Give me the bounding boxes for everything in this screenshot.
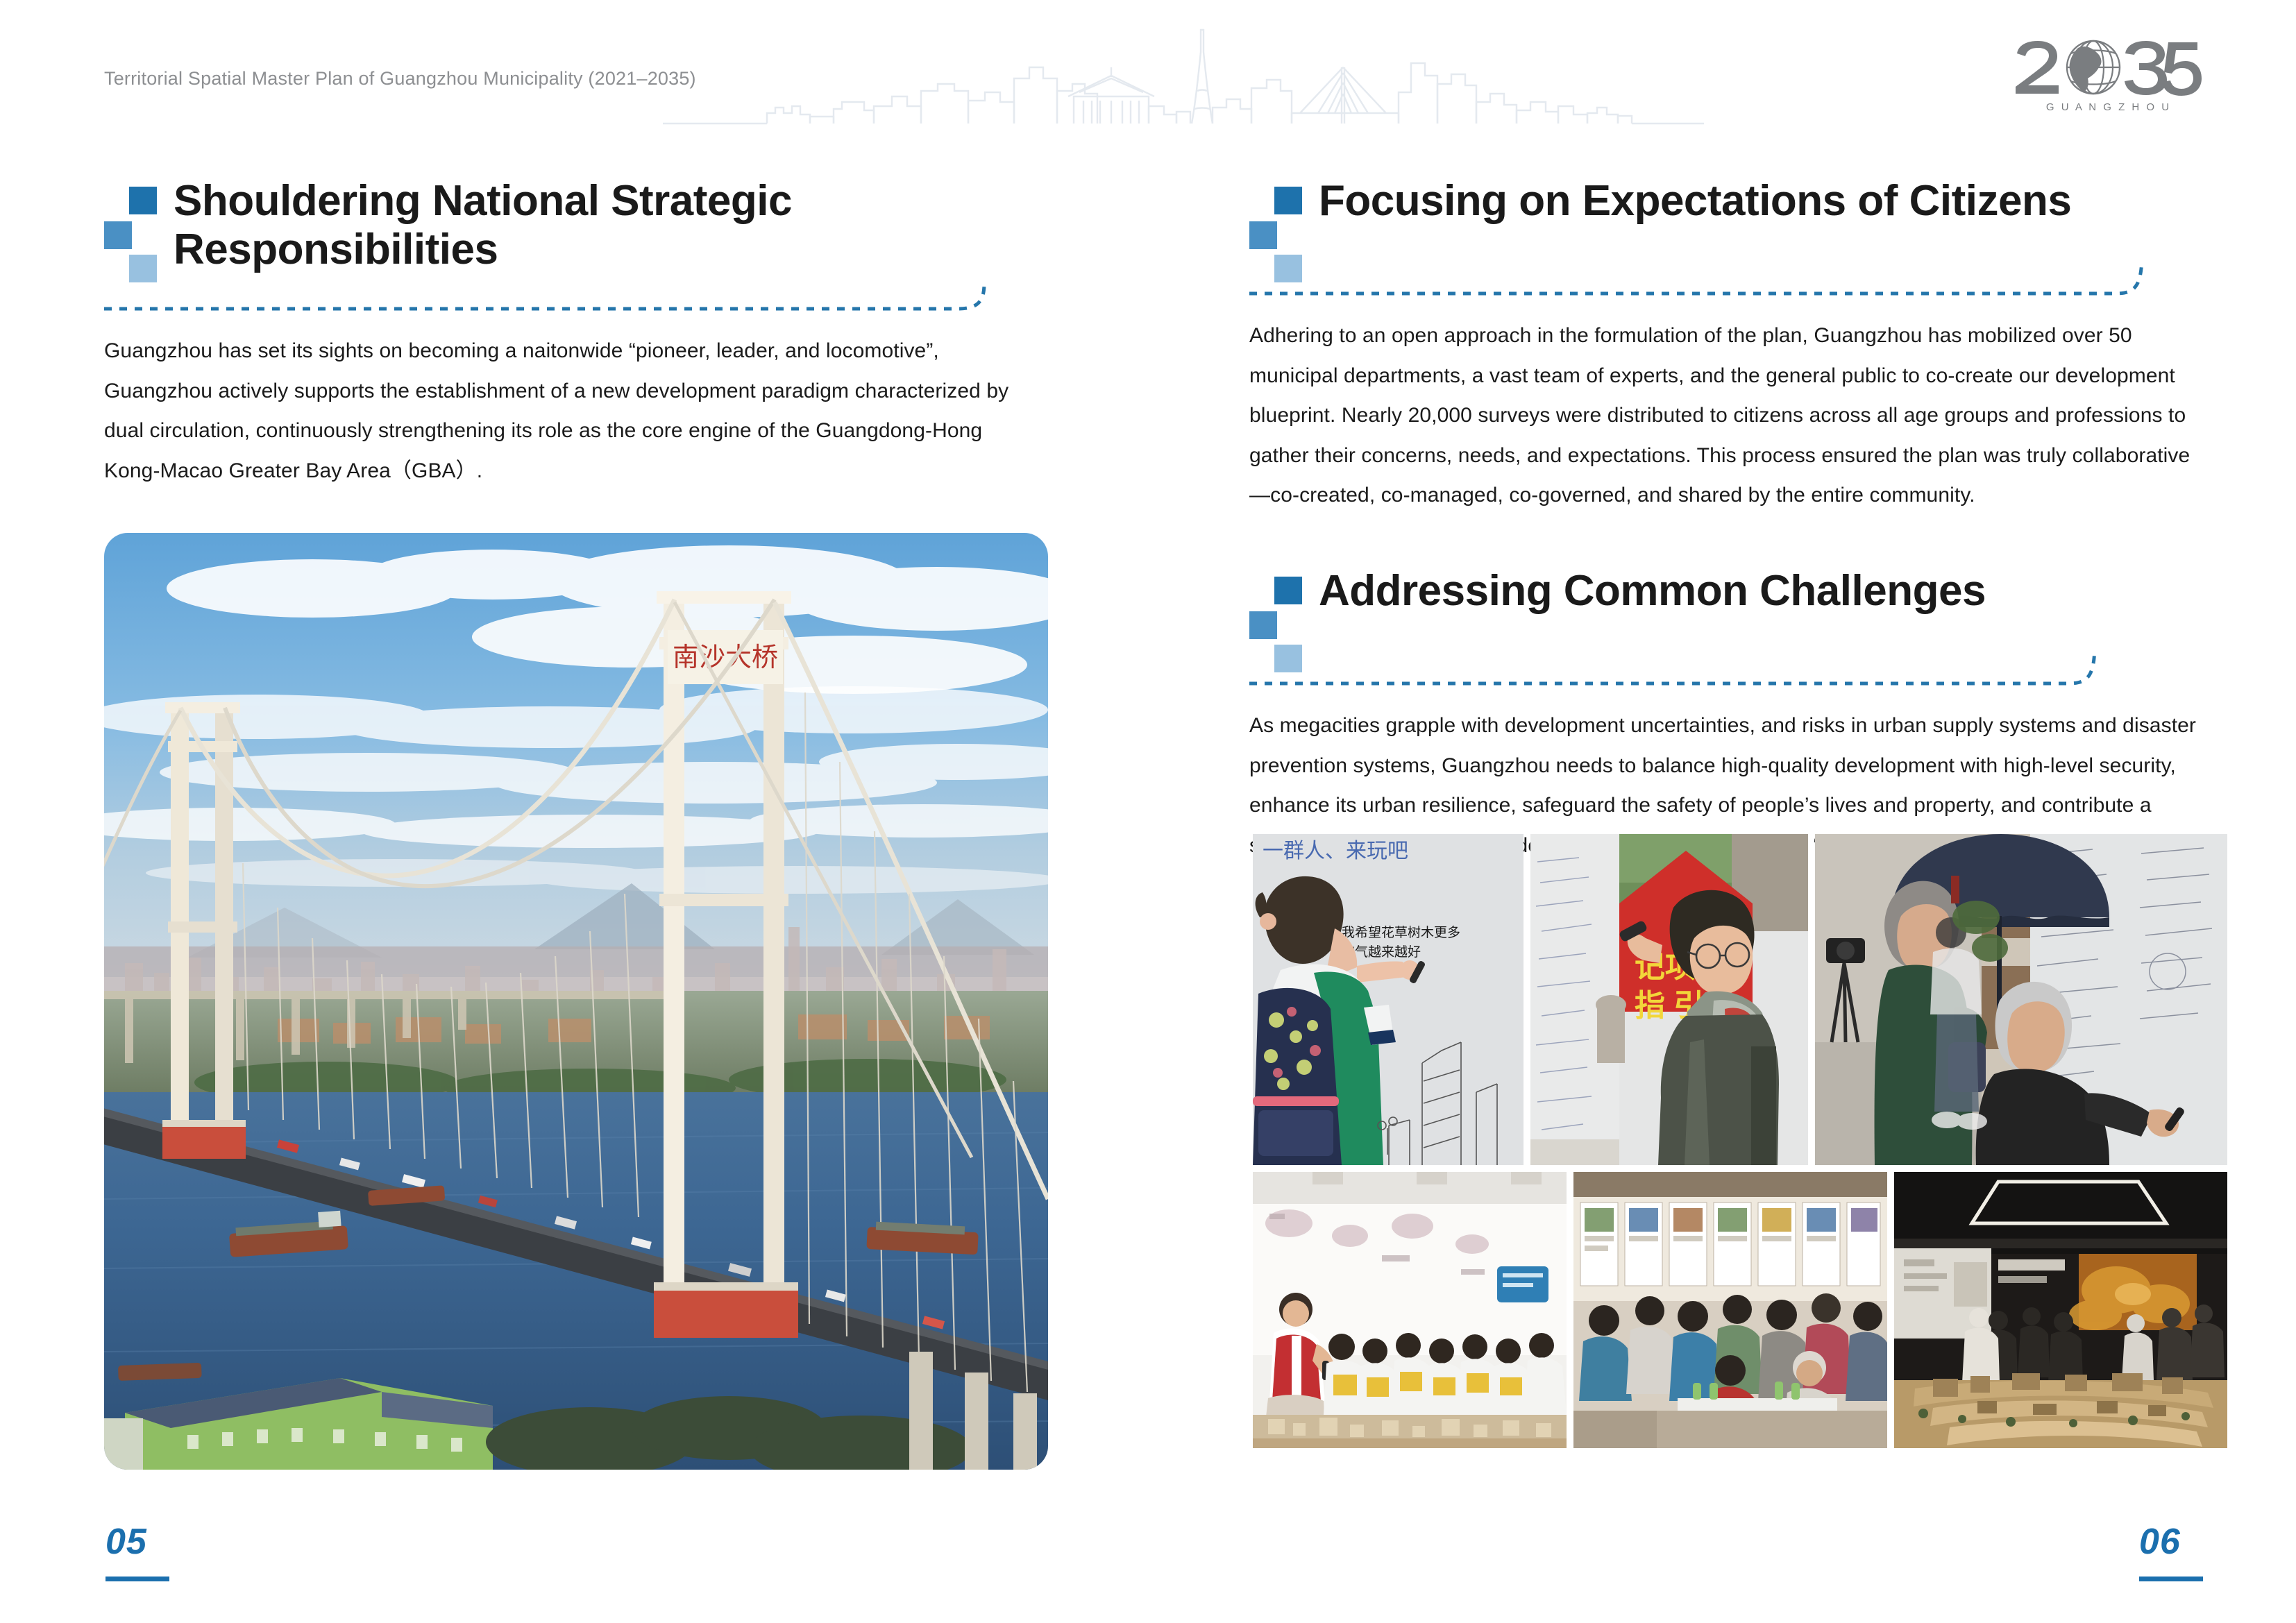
nansha-bridge-aerial-photo: 南沙大桥	[104, 533, 1048, 1470]
square-mid-icon	[104, 221, 132, 249]
young-man-writing-at-outdoor-booth-photo: 记项 指 引	[1530, 834, 1808, 1165]
heading-underline-rule	[1249, 266, 2235, 298]
guangzhou-2035-logo: G U A N G Z H O U	[2011, 38, 2206, 114]
document-page: Territorial Spatial Master Plan of Guang…	[0, 0, 2296, 1623]
page-number-left: 05	[105, 1521, 147, 1563]
heading-block: Focusing on Expectations of Citizens	[1249, 177, 2235, 259]
schoolgirl-writing-on-wall-photo: 一群人、来玩吧 我希望花草树木更多 空气越来越好	[1253, 834, 1523, 1165]
section-paragraph: Guangzhou has set its sights on becoming…	[104, 331, 1041, 491]
section-heading: Addressing Common Challenges	[1319, 567, 2235, 615]
guide-presenting-city-model-to-children-photo	[1253, 1172, 1567, 1448]
blue-squares-decoration-icon	[104, 187, 157, 262]
section-heading: Shouldering National Strategic Responsib…	[174, 177, 1076, 274]
svg-text:我希望花草树木更多: 我希望花草树木更多	[1342, 925, 1460, 940]
residents-meeting-in-exhibition-hall-photo	[1573, 1172, 1887, 1448]
left-column: Shouldering National Strategic Responsib…	[104, 177, 1076, 491]
blue-squares-decoration-icon	[1249, 577, 1302, 652]
page-number-rule-left	[105, 1577, 169, 1581]
square-mid-icon	[1249, 611, 1277, 639]
heading-underline-rule	[104, 281, 1076, 313]
running-header-title: Territorial Spatial Master Plan of Guang…	[104, 68, 696, 90]
svg-text:一群人、来玩吧: 一群人、来玩吧	[1263, 840, 1408, 863]
blue-squares-decoration-icon	[1249, 187, 1302, 262]
public-participation-photo-grid: 一群人、来玩吧 我希望花草树木更多 空气越来越好	[1253, 834, 2227, 1448]
page-number-right: 06	[2139, 1521, 2181, 1563]
square-light-icon	[129, 255, 157, 282]
page-number-rule-right	[2139, 1577, 2203, 1581]
square-dark-icon	[1274, 577, 1302, 604]
section-shouldering-national-strategic-responsibilities: Shouldering National Strategic Responsib…	[104, 177, 1076, 491]
guangzhou-skyline-icon	[663, 24, 1704, 128]
page-header: Territorial Spatial Master Plan of Guang…	[0, 0, 2296, 139]
heading-block: Addressing Common Challenges	[1249, 567, 2235, 649]
square-dark-icon	[1274, 187, 1302, 214]
section-paragraph: Adhering to an open approach in the form…	[1249, 316, 2204, 516]
visitors-viewing-large-city-model-photo	[1894, 1172, 2227, 1448]
heading-underline-rule	[1249, 656, 2235, 688]
square-dark-icon	[129, 187, 157, 214]
heading-block: Shouldering National Strategic Responsib…	[104, 177, 1076, 274]
section-heading: Focusing on Expectations of Citizens	[1319, 177, 2235, 225]
section-focusing-on-expectations-of-citizens: Focusing on Expectations of Citizens Adh…	[1249, 177, 2235, 516]
square-mid-icon	[1249, 221, 1277, 249]
right-column: Focusing on Expectations of Citizens Adh…	[1249, 177, 2235, 865]
section-addressing-common-challenges: Addressing Common Challenges As megaciti…	[1249, 567, 2235, 865]
logo-city-label: G U A N G Z H O U	[2046, 101, 2171, 113]
elderly-residents-writing-under-umbrella-photo	[1815, 834, 2227, 1165]
